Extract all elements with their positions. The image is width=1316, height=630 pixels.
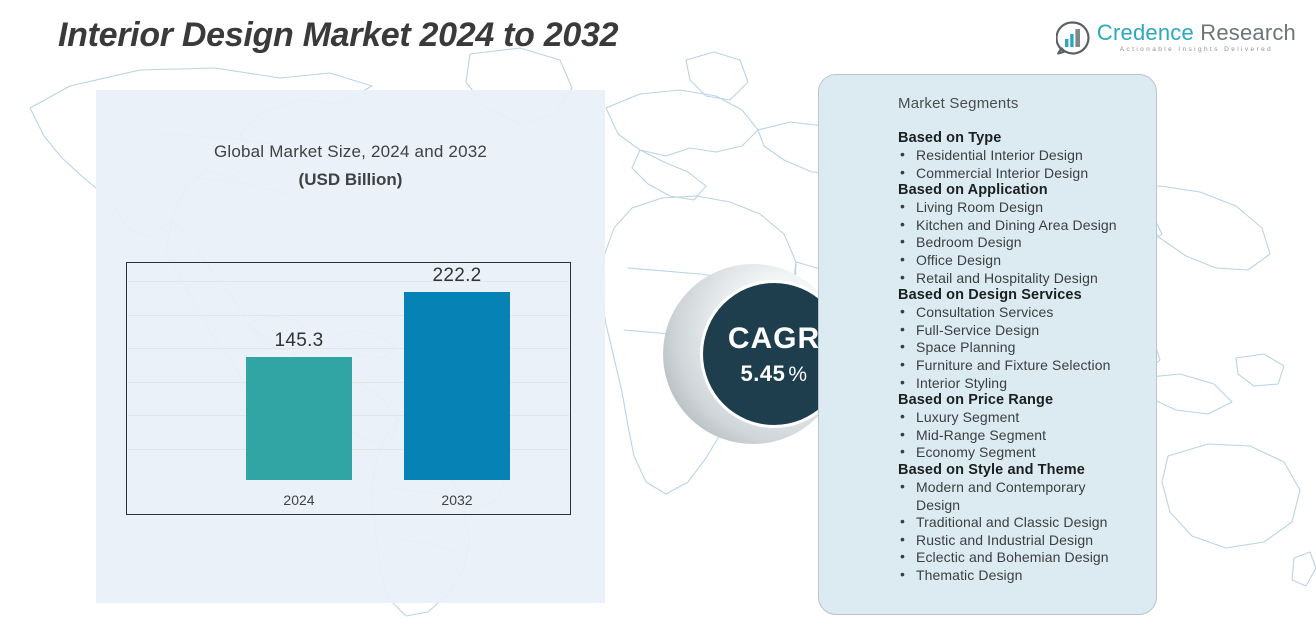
- segment-item-list: Modern and Contemporary DesignTraditiona…: [898, 479, 1132, 585]
- chart-bar: [246, 357, 352, 480]
- chart-category-label: 2032: [397, 492, 517, 508]
- segment-item: Luxury Segment: [898, 409, 1132, 427]
- segment-item: Space Planning: [898, 339, 1132, 357]
- segment-item: Rustic and Industrial Design: [898, 532, 1132, 550]
- logo-tagline: Actionable Insights Delivered: [1097, 47, 1296, 54]
- segment-item: Eclectic and Bohemian Design: [898, 549, 1132, 567]
- segment-item: Traditional and Classic Design: [898, 514, 1132, 532]
- chart-heading-line1: Global Market Size, 2024 and 2032: [96, 142, 605, 162]
- segment-group-title: Based on Type: [898, 130, 1132, 146]
- segment-item-list: Luxury SegmentMid-Range SegmentEconomy S…: [898, 409, 1132, 462]
- bar-chart: 145.32024222.22032: [126, 262, 571, 515]
- chart-bar-value-label: 145.3: [239, 330, 359, 352]
- segment-group-title: Based on Application: [898, 182, 1132, 198]
- segment-item: Thematic Design: [898, 567, 1132, 585]
- segment-item: Consultation Services: [898, 304, 1132, 322]
- segment-group-title: Based on Price Range: [898, 392, 1132, 408]
- segment-item-list: Consultation ServicesFull-Service Design…: [898, 304, 1132, 392]
- segment-item: Modern and Contemporary Design: [898, 479, 1132, 514]
- cagr-label: CAGR: [728, 324, 820, 354]
- segment-item: Residential Interior Design: [898, 147, 1132, 165]
- segment-item: Interior Styling: [898, 375, 1132, 393]
- segment-item-list: Living Room DesignKitchen and Dining Are…: [898, 199, 1132, 287]
- logo-brand-primary: Credence: [1097, 20, 1194, 45]
- segment-item: Commercial Interior Design: [898, 165, 1132, 183]
- segment-group-title: Based on Design Services: [898, 287, 1132, 303]
- cagr-number: 5.45: [740, 361, 785, 386]
- segment-item: Living Room Design: [898, 199, 1132, 217]
- segment-item: Office Design: [898, 252, 1132, 270]
- segment-item: Bedroom Design: [898, 234, 1132, 252]
- cagr-percent-symbol: %: [788, 363, 807, 386]
- market-segments-panel: Market Segments Based on TypeResidential…: [818, 74, 1157, 615]
- credence-research-logo[interactable]: Credence Research Actionable Insights De…: [1056, 18, 1296, 58]
- logo-wordmark: Credence Research Actionable Insights De…: [1097, 22, 1296, 54]
- page-title: Interior Design Market 2024 to 2032: [58, 16, 618, 55]
- chart-heading-line2: (USD Billion): [96, 170, 605, 190]
- logo-brand-secondary: Research: [1194, 20, 1296, 45]
- infographic-canvas: Interior Design Market 2024 to 2032 Cred…: [0, 0, 1316, 630]
- segment-item-list: Residential Interior DesignCommercial In…: [898, 147, 1132, 182]
- segments-groups: Based on TypeResidential Interior Design…: [843, 130, 1132, 584]
- segment-item: Kitchen and Dining Area Design: [898, 217, 1132, 235]
- segment-group-title: Based on Style and Theme: [898, 462, 1132, 478]
- chart-heading: Global Market Size, 2024 and 2032 (USD B…: [96, 142, 605, 190]
- segment-item: Mid-Range Segment: [898, 427, 1132, 445]
- segment-item: Retail and Hospitality Design: [898, 270, 1132, 288]
- chart-bar-value-label: 222.2: [397, 265, 517, 287]
- segments-panel-title: Market Segments: [898, 95, 1132, 112]
- segment-item: Economy Segment: [898, 444, 1132, 462]
- credence-bar-chart-logo-icon: [1056, 21, 1090, 55]
- segment-item: Furniture and Fixture Selection: [898, 357, 1132, 375]
- segment-item: Full-Service Design: [898, 322, 1132, 340]
- chart-category-label: 2024: [239, 492, 359, 508]
- chart-bar: [404, 292, 510, 480]
- cagr-value: 5.45%: [740, 363, 807, 385]
